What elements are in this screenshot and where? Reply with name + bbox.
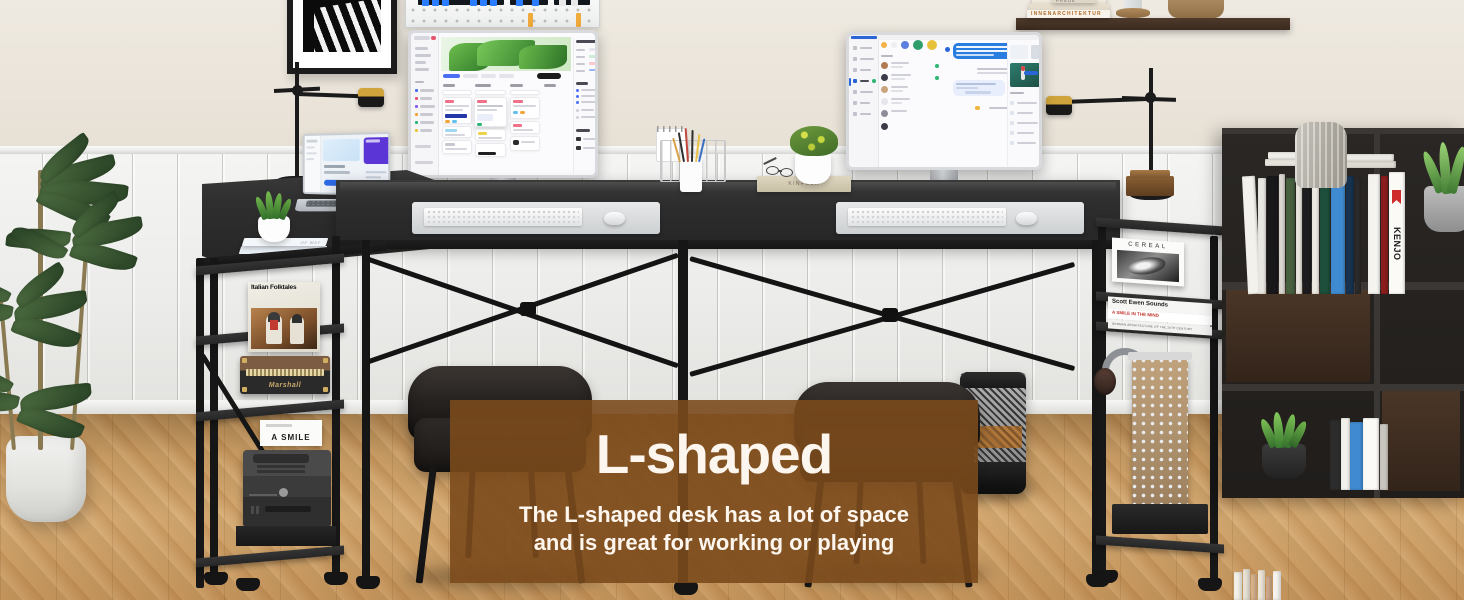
board-card[interactable] [475,90,506,95]
shelf-book-spine [1251,574,1257,600]
laptop-screen-subtitle [324,171,350,174]
desk-foot [356,576,380,589]
laptop-screen-title [324,165,345,168]
shelf-board [196,546,344,568]
product-lifestyle-banner: INNENARCHITEKTUR PRADA [0,0,1464,600]
chat-bubble-outgoing [953,80,1005,96]
shelf-foot [1198,578,1222,591]
wood-block-top [1130,170,1170,178]
shelf-book-spine [1266,576,1272,600]
keyboard-left-keys [427,210,579,224]
promo-overlay-panel: L-shaped The L-shaped desk has a lot of … [450,400,978,583]
chat-nav[interactable] [849,40,879,167]
desk-sheen [340,182,1116,192]
left-monitor[interactable] [408,30,598,178]
panel-handle [1128,352,1192,360]
printer-tray [236,526,336,546]
keyboard-right-keys [851,210,1003,224]
chair-leg [416,466,437,584]
shelf-book-spine [1273,571,1281,600]
mouse-left[interactable] [604,212,625,225]
left-monitor-screen[interactable] [411,33,595,175]
overlay-subtitle-line-2: and is great for working or playing [534,529,895,556]
shelf-foot [1094,570,1118,583]
board-card[interactable] [510,97,540,119]
keyboard-left[interactable] [424,208,582,226]
desk-main-edge [336,240,1120,249]
book-a-smile: A SMILE [260,420,322,446]
board-card[interactable] [442,90,472,95]
book-italian-folktales: Italian Folktales [248,282,320,352]
desk-left-leg [362,240,370,580]
keyboard-right[interactable] [848,208,1006,226]
pegboard-holes [410,7,595,24]
notepad-spiral [657,126,687,132]
pegboard-strip [418,0,504,5]
pen-cup [680,158,702,192]
shelf-board [196,400,344,422]
shelf-book-innenarchitektur: INNENARCHITEKTUR [1027,10,1110,18]
pegboard-strip [554,0,590,5]
shelf-book-prada: PRADA [1052,0,1096,3]
photo-art-image [303,0,381,52]
framed-photo-art [287,0,397,74]
board-card[interactable] [510,136,540,151]
shelf-foot [236,578,260,591]
wooden-bowl [1168,0,1224,18]
mouse-right[interactable] [1016,212,1037,225]
marshall-amplifier: Marshall [240,356,330,394]
wood-coaster [1116,8,1150,18]
shelf-post [1210,236,1218,580]
bookcase-plant-pot [1262,444,1306,478]
laser-printer [243,450,331,526]
board-badge [537,73,561,79]
board-card[interactable] [475,143,506,157]
board-card[interactable] [442,140,472,154]
magazine-cereal: CEREAL [1112,237,1184,286]
ribbed-vase [1295,122,1347,188]
shelf-post [1098,222,1106,580]
pegboard-strip [510,0,548,5]
shelf-foot [324,572,348,585]
right-monitor-bezel [846,32,1042,170]
plant-pot [6,436,86,522]
board-card-active[interactable] [474,97,507,127]
shelf-post [196,258,204,588]
shelf-book-stack [1029,3,1109,10]
pegboard-organizer [405,0,600,28]
board-hero-image [441,37,571,71]
overlay-subtitle-line-1: The L-shaped desk has a lot of space [519,501,909,528]
desk-foot [674,582,698,595]
overlay-title: L-shaped [596,427,832,482]
shelf-book-spine [1258,570,1265,600]
shelf-book-spine [1243,569,1250,600]
center-plant-pot [795,152,831,184]
wood-block [1126,176,1174,196]
board-card[interactable] [442,97,472,124]
board-card[interactable] [475,129,506,141]
wood-wall-shelf [1016,18,1290,30]
shelf-lower-box [1112,504,1208,534]
board-tab-active[interactable] [443,74,460,78]
board-card[interactable] [510,121,540,134]
textured-panel [1132,358,1188,506]
right-monitor-screen[interactable] [849,35,1039,167]
board-card[interactable] [510,90,540,95]
shelf-board [1096,536,1224,554]
board-card[interactable] [442,126,472,138]
right-monitor[interactable] [846,32,1042,170]
board-sidebar[interactable] [411,33,439,175]
left-monitor-bezel [408,30,598,178]
x-brace-joint [882,308,898,322]
shelf-board [196,254,344,276]
x-brace-joint [520,302,536,316]
shelf-book-spine [1234,572,1242,600]
